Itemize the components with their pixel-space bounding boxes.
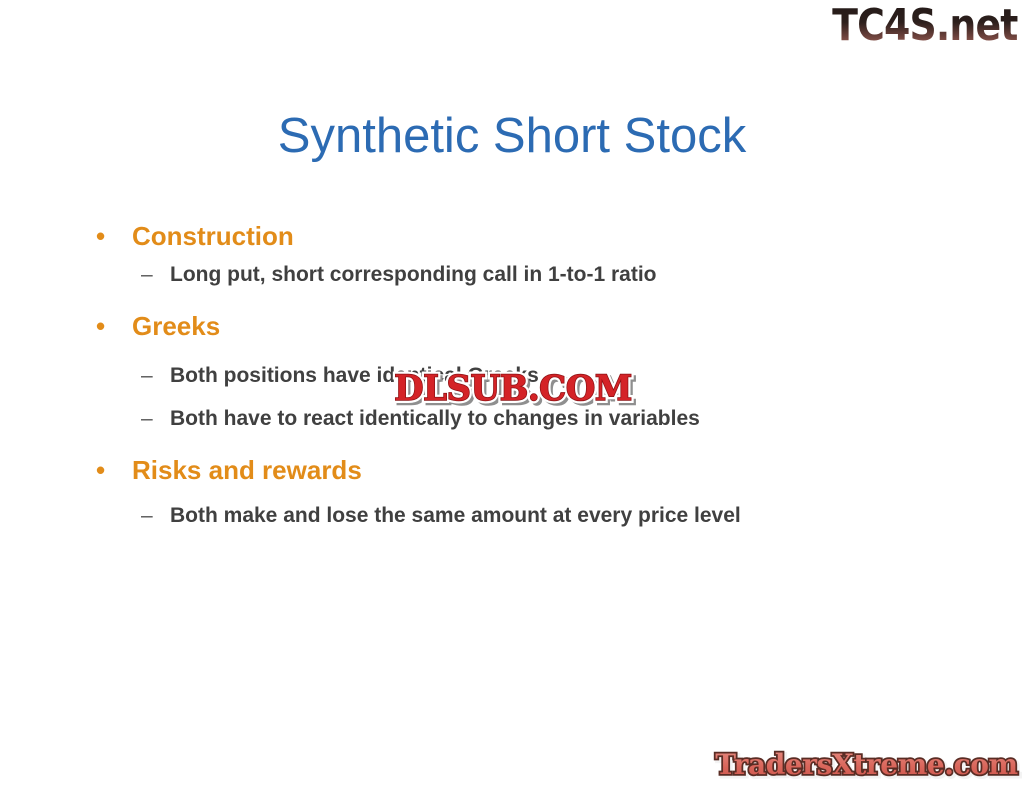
outline-level1-label: Greeks	[132, 311, 220, 341]
tx-watermark-front-layer: TradersXtreme.com	[714, 746, 1019, 784]
bullet-dot-icon: •	[96, 450, 116, 490]
dlsub-overlay-watermark: DLSUB.COM DLSUB.COM DLSUB.COM DLSUB.COM	[365, 366, 661, 412]
outline-level2-text: Both make and lose the same amount at ev…	[170, 500, 915, 531]
dash-marker-icon: –	[141, 360, 163, 391]
tc4s-site-logo: TC4S.net	[833, 2, 1018, 50]
outline-level1-risks-and-rewards: • Risks and rewards	[0, 450, 1024, 490]
bullet-dot-icon: •	[96, 306, 116, 346]
dash-marker-icon: –	[141, 259, 163, 290]
outline-level1-label: Risks and rewards	[132, 455, 362, 485]
dash-marker-icon: –	[141, 403, 163, 434]
outline-level2-item: – Long put, short corresponding call in …	[0, 259, 1024, 290]
outline-level1-construction: • Construction	[0, 216, 1024, 256]
presentation-slide: TC4S.net Synthetic Short Stock • Constru…	[0, 0, 1024, 791]
outline-level1-greeks: • Greeks	[0, 306, 1024, 346]
slide-title: Synthetic Short Stock	[0, 107, 1024, 165]
outline-level2-text: Long put, short corresponding call in 1-…	[170, 259, 915, 290]
bullet-dot-icon: •	[96, 216, 116, 256]
dash-marker-icon: –	[141, 500, 163, 531]
outline-level1-label: Construction	[132, 221, 294, 251]
tradersxtreme-watermark: TradersXtreme.com TradersXtreme.com Trad…	[714, 746, 1019, 784]
outline-level2-item: – Both make and lose the same amount at …	[0, 500, 1024, 531]
watermark-front-layer: DLSUB.COM	[369, 366, 656, 412]
